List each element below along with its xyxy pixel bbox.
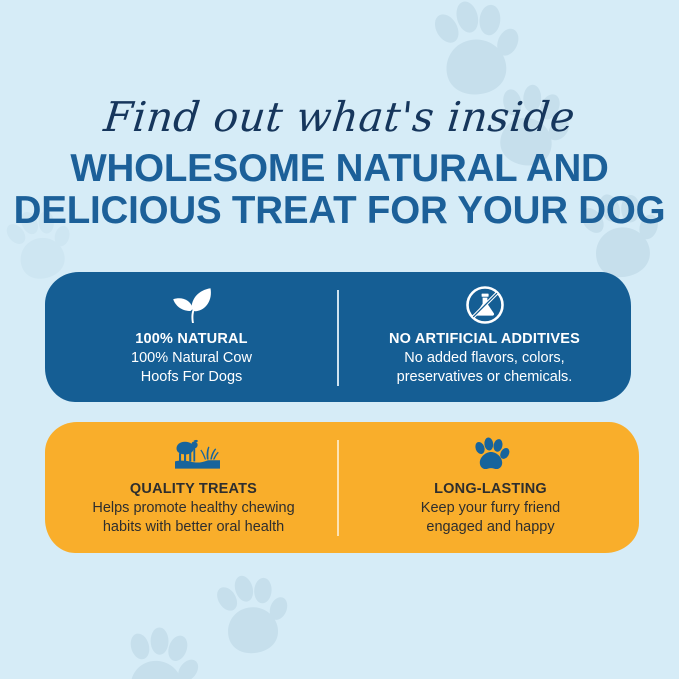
page-title-line-2: DELICIOUS TREAT FOR YOUR DOG — [0, 190, 679, 232]
blue-panel-divider — [337, 290, 339, 386]
feature-title: NO ARTIFICIAL ADDITIVES — [389, 331, 580, 348]
feature-description-line-1: Helps promote healthy chewing — [92, 499, 294, 518]
feature-description: Helps promote healthy chewing habits wit… — [92, 499, 294, 536]
paw-watermark-4 — [211, 567, 299, 658]
paw-print-icon — [471, 435, 511, 475]
sheep-on-pasture-icon — [164, 435, 224, 475]
feature-description-line-2: habits with better oral health — [92, 518, 294, 537]
page-header: Find out what's inside WHOLESOME NATURAL… — [0, 96, 679, 232]
orange-panel-divider — [337, 440, 339, 536]
feature-description-line-2: preservatives or chemicals. — [397, 368, 573, 387]
leaf-icon — [170, 285, 214, 325]
page-title-line-1: WHOLESOME NATURAL AND — [0, 148, 679, 190]
feature-description-line-2: engaged and happy — [421, 518, 560, 537]
feature-title: 100% NATURAL — [135, 331, 248, 348]
paw-watermark-1 — [428, 0, 530, 100]
feature-cell-quality-treats: QUALITY TREATS Helps promote healthy che… — [45, 422, 342, 553]
feature-description-line-1: No added flavors, colors, — [397, 349, 573, 368]
feature-cell-long-lasting: LONG-LASTING Keep your furry friend enga… — [342, 422, 639, 553]
feature-title: LONG-LASTING — [434, 481, 547, 498]
feature-description-line-2: Hoofs For Dogs — [131, 368, 252, 387]
page-title: WHOLESOME NATURAL AND DELICIOUS TREAT FO… — [0, 148, 679, 232]
feature-description-line-1: 100% Natural Cow — [131, 349, 252, 368]
paw-watermark-5 — [121, 623, 206, 679]
blue-feature-panel: 100% NATURAL 100% Natural Cow Hoofs For … — [45, 272, 631, 402]
feature-description: Keep your furry friend engaged and happy — [421, 499, 560, 536]
orange-feature-panel: QUALITY TREATS Helps promote healthy che… — [45, 422, 639, 553]
feature-cell-natural: 100% NATURAL 100% Natural Cow Hoofs For … — [45, 272, 338, 402]
feature-description: 100% Natural Cow Hoofs For Dogs — [131, 349, 252, 386]
no-chemicals-icon — [465, 285, 505, 325]
feature-title: QUALITY TREATS — [130, 481, 257, 498]
feature-cell-no-additives: NO ARTIFICIAL ADDITIVES No added flavors… — [338, 272, 631, 402]
feature-description-line-1: Keep your furry friend — [421, 499, 560, 518]
script-tagline: Find out what's inside — [0, 96, 679, 139]
feature-description: No added flavors, colors, preservatives … — [397, 349, 573, 386]
